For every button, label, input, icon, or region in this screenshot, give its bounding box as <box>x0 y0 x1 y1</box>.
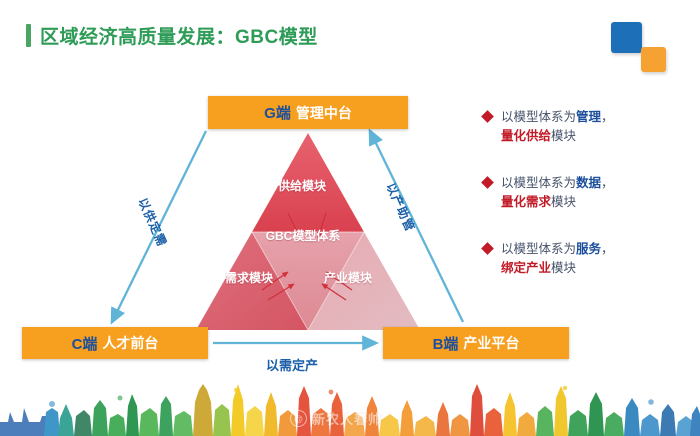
bullet-text-3: 以模型体系为服务， 绑定产业模块 <box>501 240 614 279</box>
bullet-1-keyword: 管理 <box>576 110 601 124</box>
watercolor-skyline-decoration <box>0 378 700 436</box>
bullet-1-comma: ， <box>601 110 614 124</box>
bullet-2-keyword: 数据 <box>576 176 601 190</box>
bullet-list: 以模型体系为管理， 量化供给模块 以模型体系为数据， 量化需求模块 以模型体系为… <box>483 108 695 305</box>
bullet-text-2: 以模型体系为数据， 量化需求模块 <box>501 174 614 213</box>
bullet-2-emphasis: 量化需求 <box>501 195 551 209</box>
bullet-text-1: 以模型体系为管理， 量化供给模块 <box>501 108 614 147</box>
bullet-1-tail: 模块 <box>551 129 576 143</box>
bullet-item-1: 以模型体系为管理， 量化供给模块 <box>483 108 695 147</box>
diamond-bullet-icon <box>481 242 494 255</box>
node-c-tag: C端 <box>72 333 98 354</box>
bullet-3-keyword: 服务 <box>576 242 601 256</box>
bullet-3-comma: ， <box>601 242 614 256</box>
pyramid-segment-supply <box>252 133 364 232</box>
node-c-label: 人才前台 <box>102 333 158 353</box>
node-g-tag: G端 <box>264 102 291 123</box>
bullet-item-3: 以模型体系为服务， 绑定产业模块 <box>483 240 695 279</box>
bullet-1-lead: 以模型体系为 <box>501 110 576 124</box>
bullet-1-emphasis: 量化供给 <box>501 129 551 143</box>
node-g-management-hub[interactable]: G端 管理中台 <box>208 96 408 129</box>
bullet-3-emphasis: 绑定产业 <box>501 261 551 275</box>
node-b-industry-platform[interactable]: B端 产业平台 <box>383 327 569 359</box>
edge-label-demand-defines-production: 以需定产 <box>266 355 318 374</box>
bullet-2-lead: 以模型体系为 <box>501 176 576 190</box>
slide-canvas: 区域经济高质量发展：GBC模型 <box>0 0 700 436</box>
node-c-talent-frontend[interactable]: C端 人才前台 <box>22 327 208 359</box>
diamond-bullet-icon <box>481 110 494 123</box>
bullet-3-tail: 模块 <box>551 261 576 275</box>
bullet-2-comma: ， <box>601 176 614 190</box>
bullet-3-lead: 以模型体系为 <box>501 242 576 256</box>
bullet-item-2: 以模型体系为数据， 量化需求模块 <box>483 174 695 213</box>
node-b-label: 产业平台 <box>463 333 519 353</box>
diamond-bullet-icon <box>481 176 494 189</box>
node-b-tag: B端 <box>433 333 459 354</box>
bullet-2-tail: 模块 <box>551 195 576 209</box>
node-g-label: 管理中台 <box>296 103 352 123</box>
